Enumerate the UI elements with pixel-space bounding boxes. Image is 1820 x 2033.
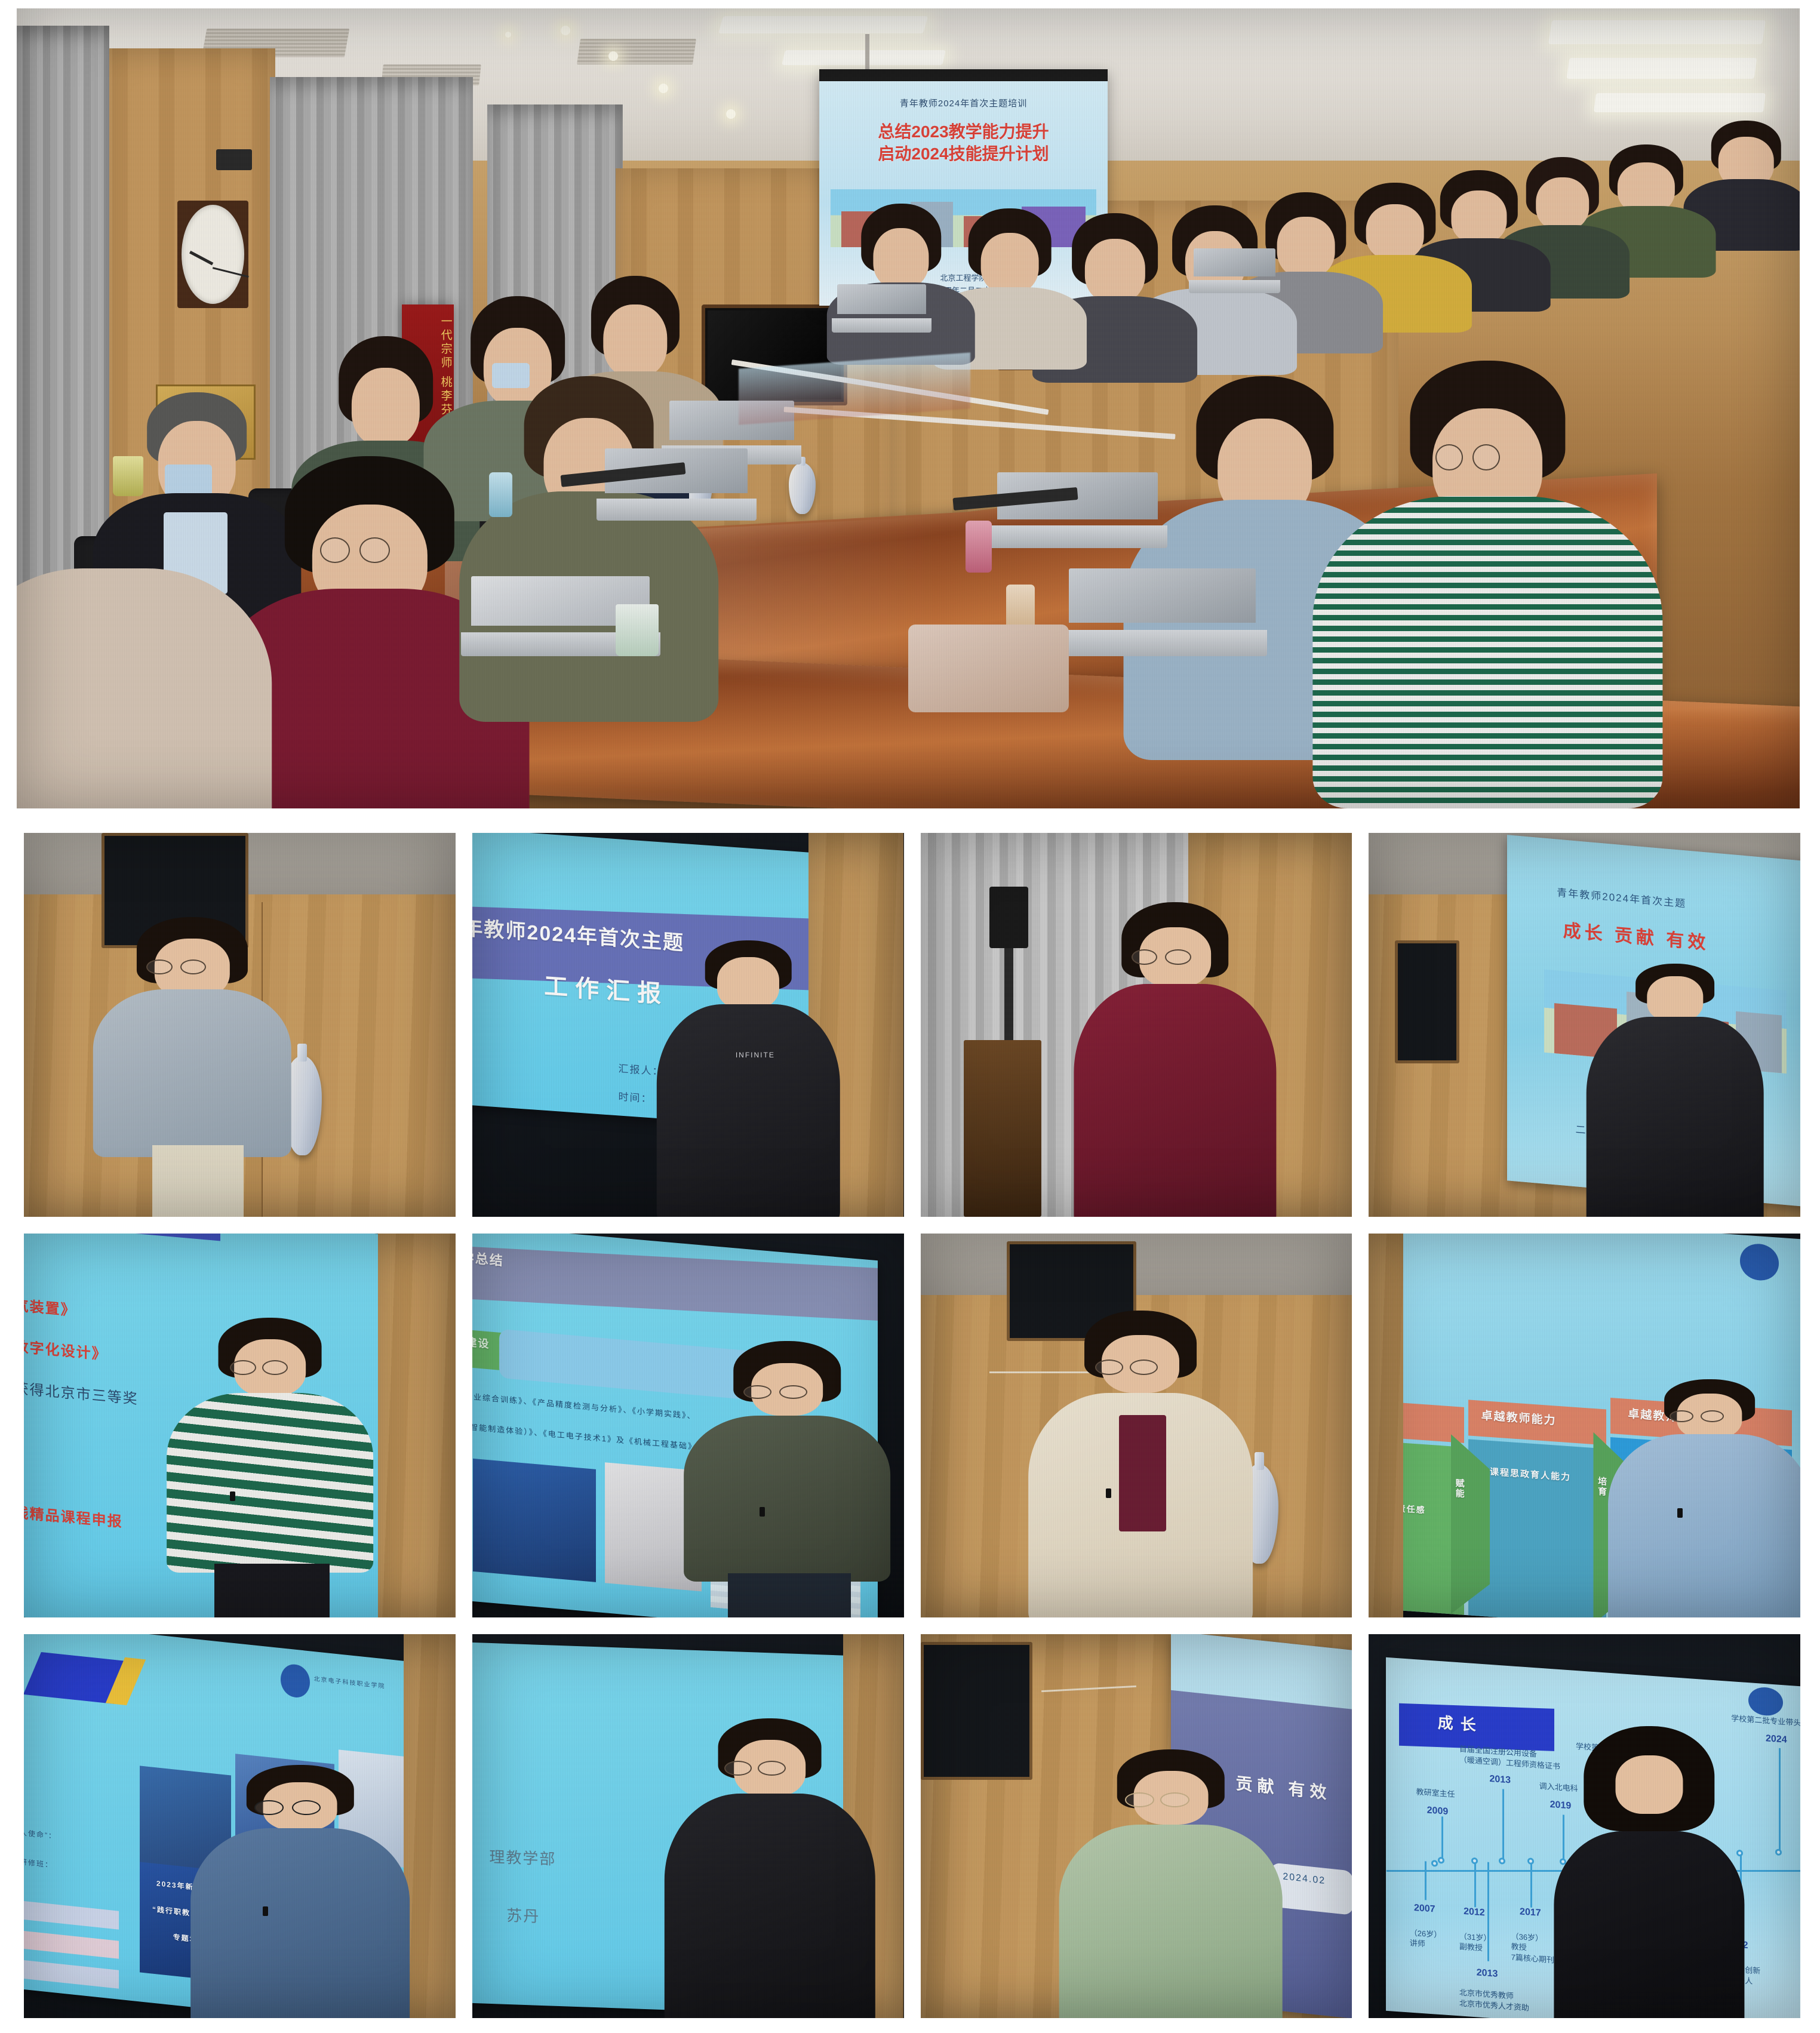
ceiling-light-panel	[782, 50, 946, 65]
photo-grid: 年教师2024年首次主题 工作汇报 汇报人： 时间： INFINITE	[24, 833, 1800, 2018]
wood-wall-left	[1369, 1234, 1403, 1617]
timeline-stem	[1441, 1817, 1443, 1863]
slide-bullet	[24, 1960, 119, 1988]
timeline-title: 成长	[1438, 1711, 1483, 1736]
slide-line-2: 成长 贡献 有效	[1563, 915, 1709, 954]
wall-clock-icon	[177, 201, 248, 309]
grid-cell-8-excellence-chart[interactable]: 卓越教师能力 卓越教师目标 赋能 培育 课程思政育人能力 卓越职业精神传承者 责…	[1369, 1234, 1800, 1617]
timeline-node	[1438, 1857, 1444, 1864]
speaker-figure	[1067, 1749, 1274, 2018]
grid-cell-4-huang-dunhua[interactable]: 青年教师2024年首次主题 成长 贡献 有效 黄敦华 二〇二四年二月二十二	[1369, 833, 1800, 1217]
ceiling-light-panel	[718, 16, 929, 33]
timeline-node	[1527, 1858, 1534, 1865]
timeline-stem	[1487, 1862, 1489, 1961]
speaker-figure	[688, 1341, 886, 1617]
ceiling-light-panel	[1566, 58, 1756, 79]
attendee-foreground-maroon	[245, 456, 494, 808]
grid-cell-5-award-slide[interactable]: 气装置》 数字化设计》 获得北京市三等奖 线精品课程申报	[24, 1234, 456, 1617]
slide-bullet	[24, 1930, 119, 1959]
water-bottle	[489, 472, 512, 517]
wood-wall-right	[404, 1634, 456, 2018]
glasses-icon	[1130, 1360, 1158, 1375]
clock-face	[182, 205, 244, 305]
slide-photo	[473, 1458, 596, 1582]
camera-icon	[989, 887, 1028, 948]
upper-wall	[921, 1234, 1352, 1295]
hero-photo-conference-room[interactable]: 一代宗师 桃李芬芳 机电工程学院	[17, 8, 1800, 808]
glasses-icon	[1472, 444, 1500, 470]
glasses-icon	[1132, 949, 1157, 965]
ceiling-light-panel	[1548, 20, 1766, 44]
glasses-icon	[1670, 1410, 1693, 1422]
glasses-icon	[1165, 949, 1191, 965]
glasses-icon	[1160, 1792, 1189, 1807]
water-bottle	[966, 521, 992, 573]
wood-wall-right	[378, 1234, 456, 1617]
slide-line-1: 理教学部	[490, 1845, 557, 1869]
screen-top-bar	[819, 69, 1108, 81]
timeline-node	[1431, 1860, 1438, 1868]
slide-line-2: 苏丹	[507, 1903, 540, 1927]
clock-hour-hand	[189, 250, 214, 265]
school-logo-icon	[1740, 1243, 1779, 1282]
slide-title-line1: 总结2023教学能力提升	[878, 122, 1049, 141]
laptop	[997, 472, 1158, 548]
grid-cell-6-teaching-summary[interactable]: 教学总结 课程建设 《机制专业综合训练》、《产品精度检测与分析》、《小学期实践》…	[472, 1234, 904, 1617]
face-mask-icon	[165, 465, 212, 496]
grid-cell-3-speaker-maroon[interactable]	[921, 833, 1352, 1217]
attendee-foreground-coat	[17, 505, 213, 808]
grid-cell-10-su-dan[interactable]: 理教学部 苏丹	[472, 1634, 904, 2018]
timeline-year: 2024	[1766, 1733, 1787, 1745]
grid-cell-2-work-report[interactable]: 年教师2024年首次主题 工作汇报 汇报人： 时间： INFINITE	[472, 833, 904, 1217]
grid-cell-9-training-ceremony[interactable]: 北京电子科技职业学院 2023年新入职教师 “践行职教风采，勇担树人使命” 专题…	[24, 1634, 456, 2018]
glasses-icon	[146, 959, 172, 974]
timeline-stem	[1474, 1862, 1476, 1908]
clip-microphone-icon	[263, 1906, 268, 1916]
slide-line-6: 研修班：	[24, 1856, 53, 1870]
ceiling-vent	[577, 39, 696, 64]
wall-monitor	[921, 1642, 1033, 1780]
timeline-label: （26岁） 讲师	[1410, 1927, 1441, 1951]
slide-bullet	[24, 1900, 119, 1929]
slide-line-1: 青年教师2024年首次主题	[1557, 884, 1686, 910]
slide-org-name: 北京电子科技职业学院	[313, 1674, 385, 1690]
wall-monitor	[1395, 940, 1459, 1063]
thermos-cup	[616, 604, 659, 656]
attendee	[962, 208, 1058, 361]
clip-microphone-icon	[1106, 1488, 1111, 1498]
handbag	[908, 625, 1069, 712]
slide-title-line2: 启动2024技能提升计划	[878, 144, 1049, 163]
timeline-node	[1471, 1857, 1478, 1865]
lectern	[964, 1040, 1041, 1217]
striped-sweater	[167, 1393, 373, 1573]
slide-line-3: 获得北京市三等奖	[24, 1376, 138, 1408]
slide-line-4: 时间：	[618, 1088, 652, 1105]
speaker-figure	[93, 917, 291, 1217]
room-interior: 一代宗师 桃李芬芳 机电工程学院	[17, 8, 1800, 808]
glasses-icon	[1095, 1360, 1123, 1375]
slide-line-2: 数字化设计》	[24, 1335, 107, 1364]
slide-line-1: 气装置》	[24, 1293, 76, 1320]
timeline-stem	[1530, 1862, 1532, 1908]
tea-cup	[113, 456, 143, 496]
glasses-icon	[743, 1385, 771, 1399]
grid-cell-1-speaker-grey-cardigan[interactable]	[24, 833, 456, 1217]
chart-arrow-label-1: 赋能	[1453, 1478, 1465, 1499]
glasses-icon	[262, 1360, 288, 1375]
clip-microphone-icon	[760, 1507, 765, 1517]
speaker-figure	[1593, 964, 1757, 1217]
timeline-stem	[1425, 1862, 1427, 1900]
glasses-icon	[320, 537, 350, 563]
timeline-year: 2017	[1520, 1907, 1541, 1919]
clip-microphone-icon	[1677, 1508, 1683, 1518]
timeline-year: 2007	[1414, 1903, 1435, 1915]
laptop[interactable]	[1069, 568, 1256, 656]
speaker-figure	[1619, 1379, 1800, 1617]
slide-line-4: 线精品课程申报	[24, 1501, 122, 1531]
slide-title: 总结2023教学能力提升 启动2024技能提升计划	[819, 121, 1108, 165]
timeline-node	[1775, 1849, 1782, 1856]
ceiling-spotlight	[505, 32, 511, 38]
glasses-icon	[1435, 444, 1463, 470]
speaker-figure	[196, 1765, 404, 2018]
speaker-figure: INFINITE	[662, 940, 835, 1217]
clock-minute-hand	[213, 267, 249, 278]
timeline-label: 教研室主任	[1416, 1787, 1455, 1800]
glasses-icon	[1125, 1792, 1154, 1807]
laptop	[605, 448, 748, 521]
glasses-icon	[359, 537, 389, 563]
speaker-figure	[171, 1318, 369, 1617]
grid-cell-7-speaker-cream-cardigan[interactable]	[921, 1234, 1352, 1617]
timeline-year: 2013	[1490, 1774, 1511, 1786]
timeline-stem	[1779, 1748, 1781, 1854]
collage-page: 一代宗师 桃李芬芳 机电工程学院	[0, 0, 1820, 2033]
ceiling-spotlight	[659, 84, 668, 93]
glasses-icon	[779, 1385, 807, 1399]
glasses-icon	[230, 1360, 256, 1375]
grid-cell-11-yan-haijun[interactable]: 成长 贡献 有效 闫海君 2024.02	[921, 1634, 1352, 2018]
grid-cell-12-growth-timeline[interactable]: 成长 2009 教研室主任 2013 首届全国注册公用设备（暖通空调）工程师资格…	[1369, 1634, 1800, 2018]
timeline-node	[1499, 1858, 1506, 1865]
porcelain-vase	[789, 463, 816, 514]
striped-sweater	[1313, 496, 1662, 808]
chart-arrow-label-2: 培育	[1595, 1477, 1608, 1497]
ceiling-light-panel	[1594, 93, 1766, 112]
attendee-foreground-striped	[1363, 361, 1612, 761]
timeline-year: 2009	[1427, 1805, 1449, 1817]
attendee	[854, 204, 947, 356]
slide-subtitle: 青年教师2024年首次主题培训	[819, 97, 1108, 109]
timeline-stem	[1502, 1789, 1504, 1863]
speaker-figure	[1032, 1311, 1248, 1617]
speaker-figure	[1550, 1726, 1748, 2018]
speaker-figure	[671, 1718, 869, 2018]
slide-line-3: 《机制专业综合训练》、《产品精度检测与分析》、《小学期实践》、	[472, 1388, 696, 1422]
slide-header-band	[472, 1243, 878, 1324]
security-camera	[216, 149, 252, 170]
slide-band	[24, 1234, 220, 1241]
school-logo-icon	[1748, 1686, 1783, 1717]
glasses-icon	[724, 1761, 752, 1776]
timeline-label: 北京市优秀教师 北京市优秀人才资助	[1459, 1988, 1529, 2013]
timeline-label: （31岁） 副教授	[1459, 1931, 1491, 1954]
school-logo-icon	[281, 1663, 310, 1699]
clip-microphone-icon	[230, 1491, 235, 1501]
slide-line-5: 人使命”：	[24, 1827, 56, 1841]
glasses-icon	[180, 959, 206, 974]
slide-line-4: 实践2（智能制造体验）》、《电工电子技术1》及《机械工程基础》。	[472, 1417, 702, 1452]
speaker-figure	[1076, 902, 1274, 1217]
timeline-year: 2013	[1477, 1967, 1498, 1979]
glasses-icon	[758, 1761, 786, 1776]
laptop	[837, 284, 926, 332]
laptop	[1194, 248, 1275, 293]
timeline-year: 2012	[1464, 1906, 1485, 1918]
